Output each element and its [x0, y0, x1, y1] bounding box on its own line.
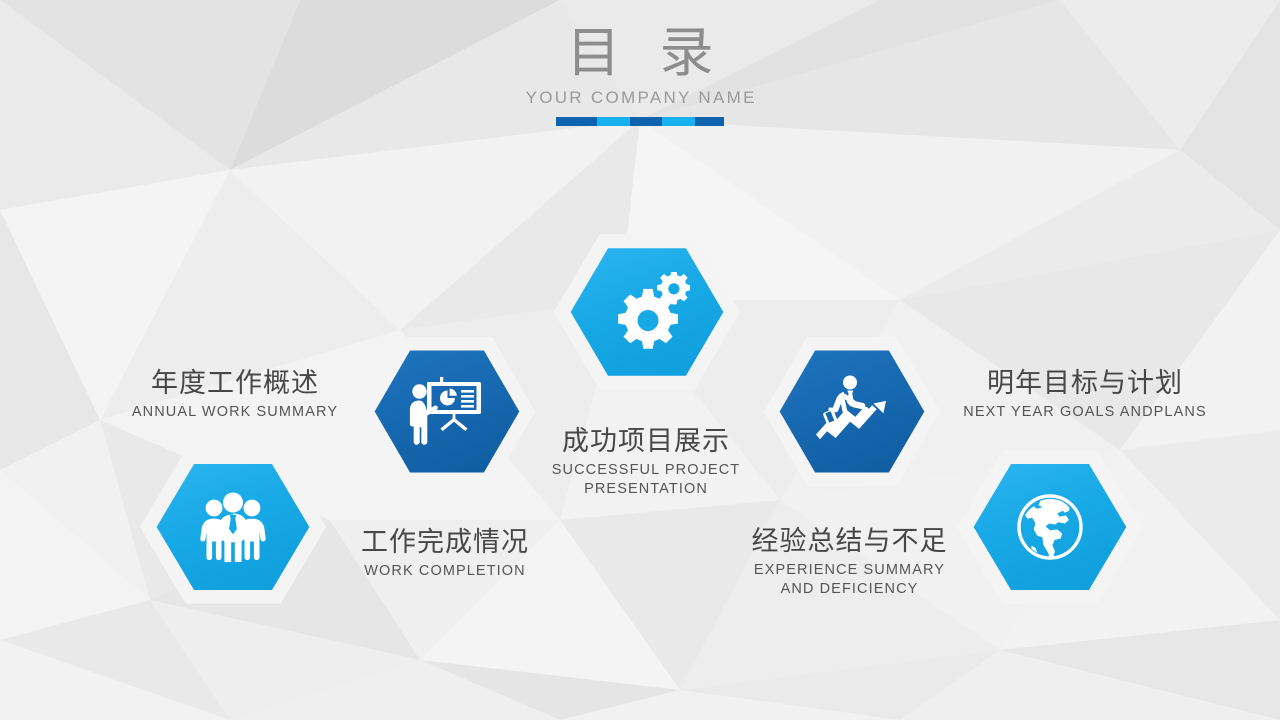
gears-icon	[604, 272, 690, 352]
label-annual-work-summary: 年度工作概述 ANNUAL WORK SUMMARY	[110, 366, 360, 422]
label-cn-experience-summary: 经验总结与不足	[742, 524, 957, 558]
presentation-slide: 目 录 YOUR COMPANY NAME	[0, 0, 1280, 720]
globe-icon	[1013, 490, 1087, 564]
businessman-growth-arrow-icon	[810, 374, 894, 448]
label-en-successful-project: SUCCESSFUL PROJECT PRESENTATION	[548, 461, 744, 499]
page-title: 目 录	[0, 24, 1280, 82]
label-cn-annual-work-summary: 年度工作概述	[110, 366, 360, 400]
label-next-year-goals: 明年目标与计划 NEXT YEAR GOALS ANDPLANS	[930, 366, 1240, 422]
label-work-completion: 工作完成情况 WORK COMPLETION	[330, 525, 560, 581]
label-cn-work-completion: 工作完成情况	[330, 525, 560, 559]
label-experience-summary: 经验总结与不足 EXPERIENCE SUMMARY AND DEFICIENC…	[742, 524, 957, 599]
hexagon-node-next-year-goals[interactable]	[955, 447, 1145, 607]
hexagon-node-experience-summary[interactable]	[762, 334, 942, 489]
label-successful-project-presentation: 成功项目展示 SUCCESSFUL PROJECT PRESENTATION	[548, 424, 744, 499]
hexagon-node-successful-project-presentation[interactable]	[552, 231, 742, 393]
title-decoration-bar	[556, 117, 724, 126]
people-group-icon	[192, 492, 274, 562]
hexagon-node-work-completion[interactable]	[357, 334, 537, 489]
company-name-subtitle: YOUR COMPANY NAME	[0, 88, 1280, 108]
bar-segment-5	[695, 117, 724, 126]
bar-segment-3	[630, 117, 662, 126]
label-en-next-year-goals: NEXT YEAR GOALS ANDPLANS	[930, 403, 1240, 422]
bar-segment-2	[597, 117, 630, 126]
label-cn-next-year-goals: 明年目标与计划	[930, 366, 1240, 400]
bar-segment-4	[662, 117, 695, 126]
hexagon-node-annual-work-summary[interactable]	[138, 447, 328, 607]
label-en-annual-work-summary: ANNUAL WORK SUMMARY	[110, 403, 360, 422]
label-en-work-completion: WORK COMPLETION	[330, 562, 560, 581]
bar-segment-1	[556, 117, 597, 126]
slide-header: 目 录 YOUR COMPANY NAME	[0, 24, 1280, 126]
label-cn-successful-project: 成功项目展示	[548, 424, 744, 458]
presentation-board-icon	[407, 374, 487, 448]
label-en-experience-summary: EXPERIENCE SUMMARY AND DEFICIENCY	[742, 561, 957, 599]
